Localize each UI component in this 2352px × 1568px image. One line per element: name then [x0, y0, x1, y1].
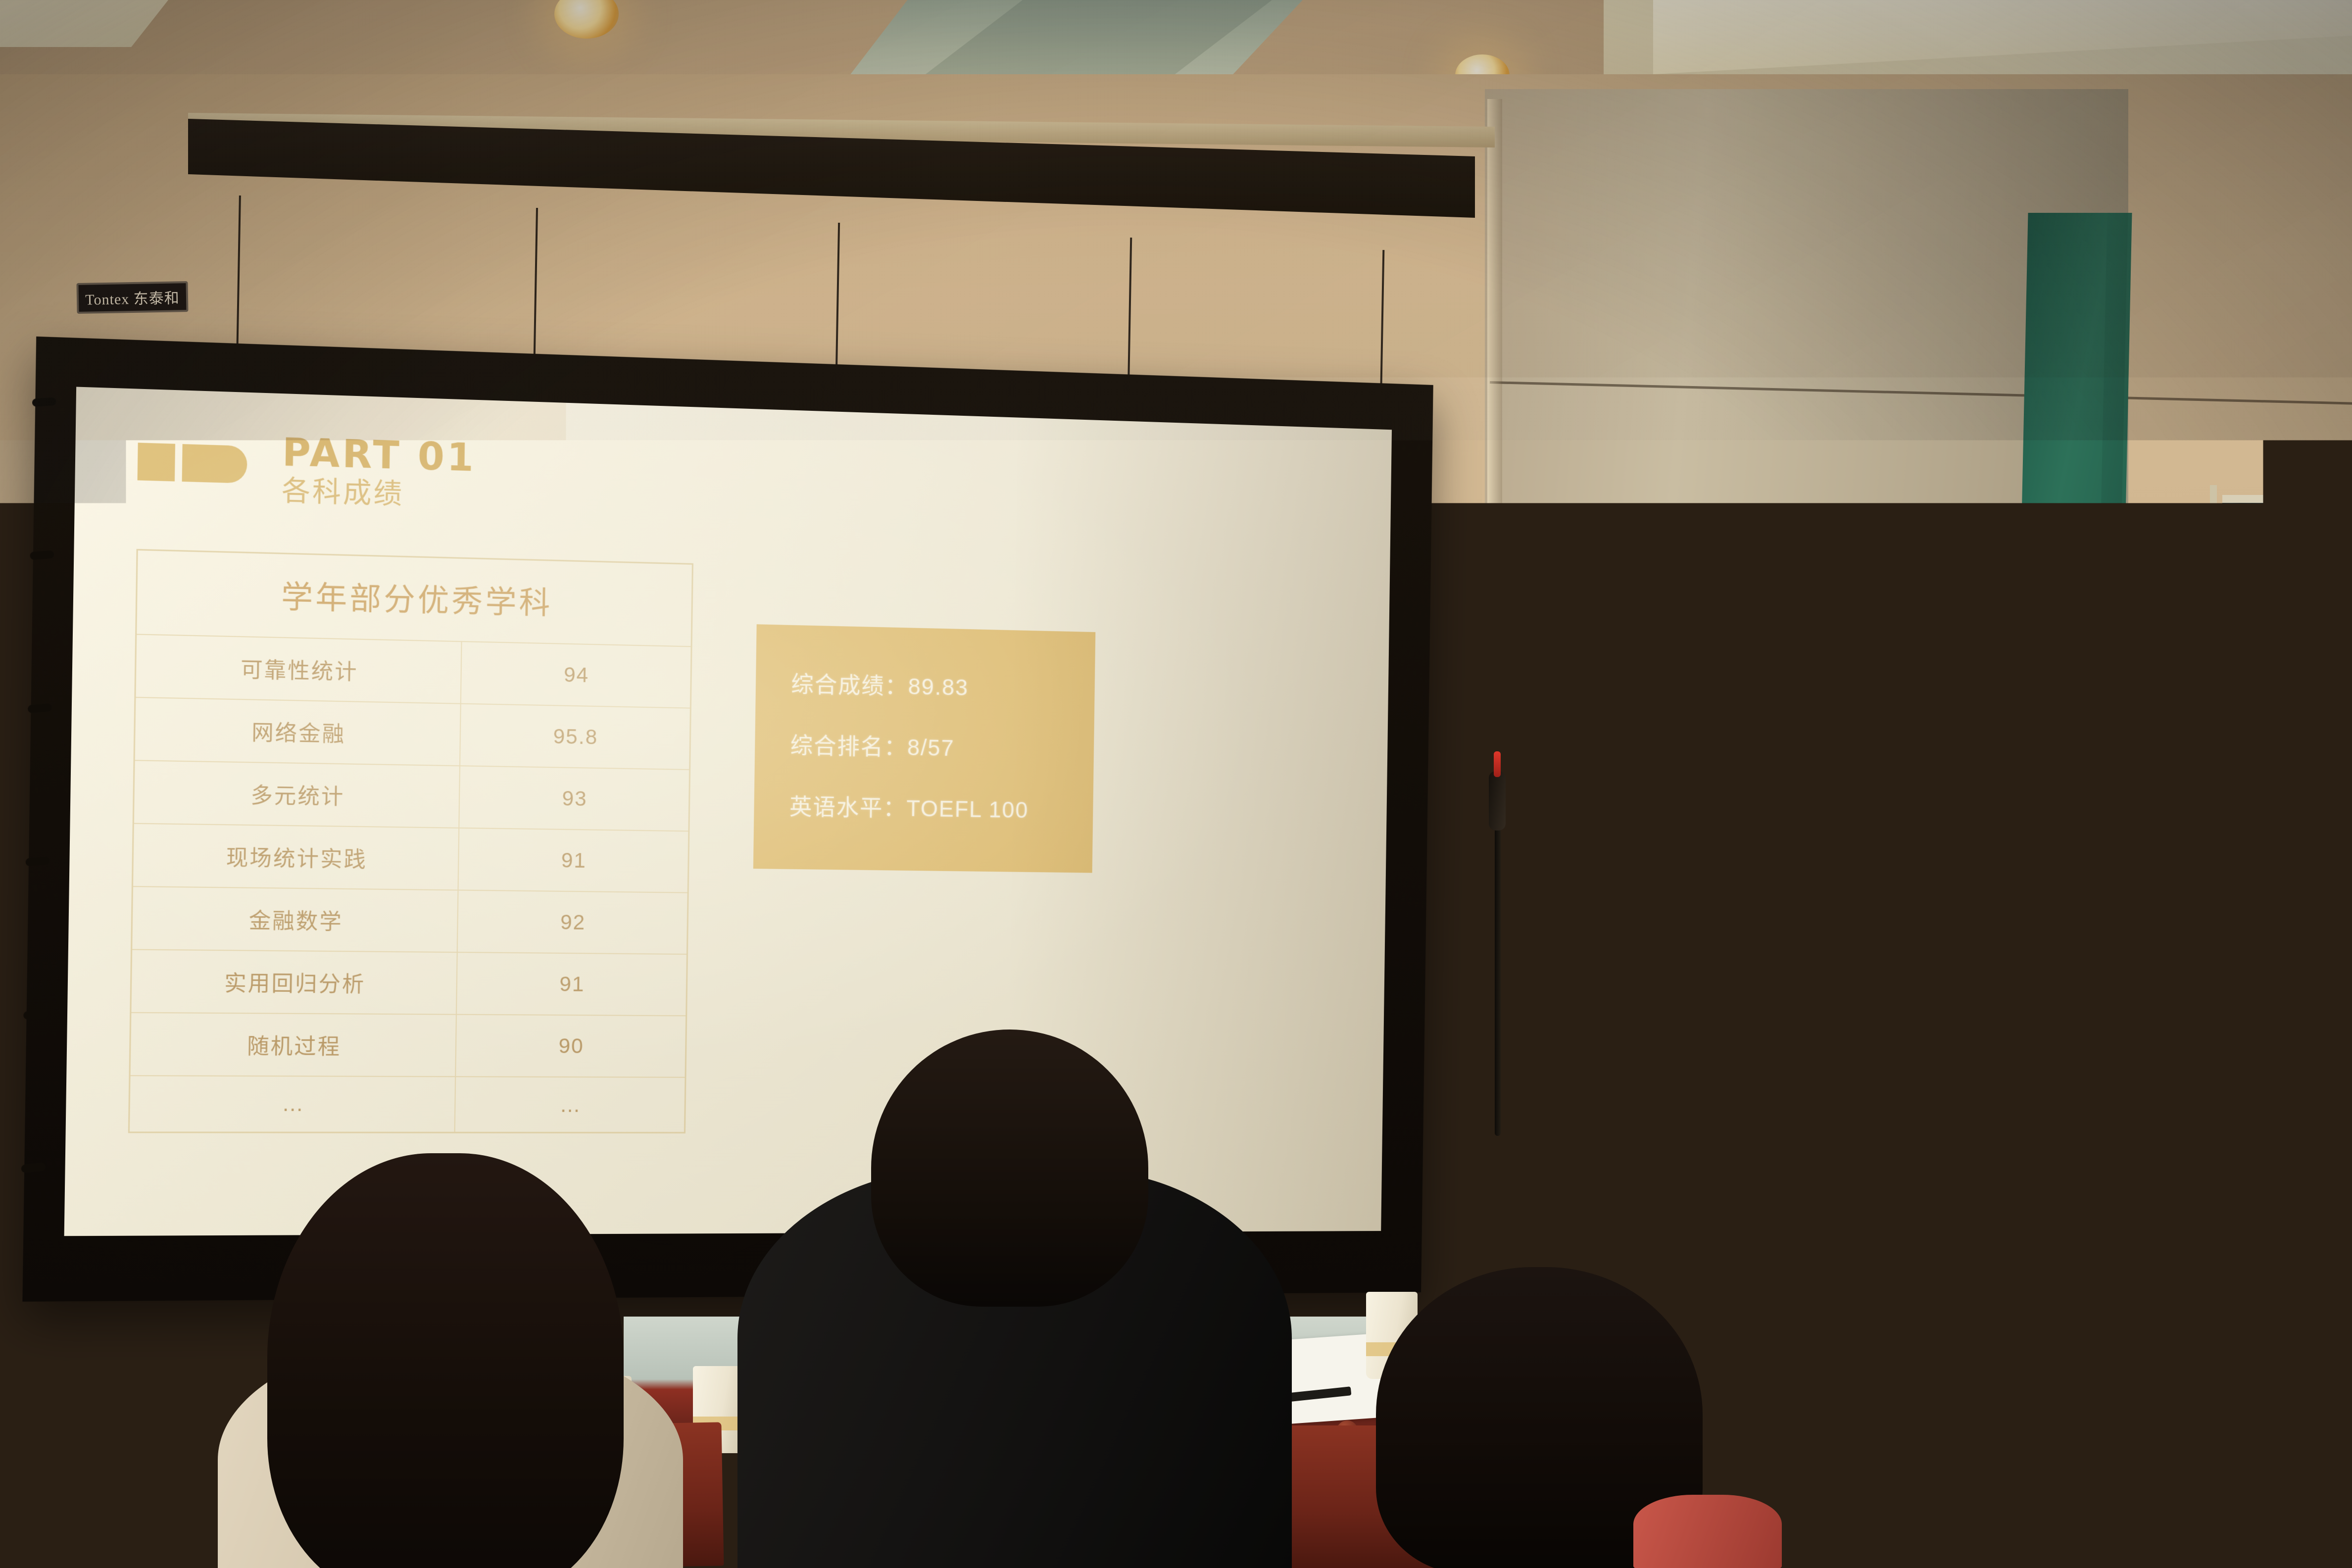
conference-room-photo: Tontex 东泰和 PART 01	[0, 0, 2352, 1568]
grades-table-body: 可靠性统计94网络金融95.8多元统计93现场统计实践91金融数学92实用回归分…	[129, 635, 691, 1133]
grade-subject-cell: 网络金融	[134, 697, 460, 766]
slide-decor-pills	[138, 440, 246, 487]
slide-header: PART 01 各科成绩	[137, 429, 1335, 537]
table-row: 实用回归分析91	[131, 950, 687, 1016]
table-row: 网络金融95.8	[134, 697, 690, 770]
summary-line-english-level: 英语水平：TOEFL 100	[789, 795, 1059, 822]
decor-pill-icon	[182, 444, 247, 484]
microphone-stand[interactable]	[1495, 789, 1501, 1136]
window-curtain	[2222, 495, 2352, 742]
presentation-slide: PART 01 各科成绩 学年部分优秀学科	[64, 387, 1392, 1236]
grade-subject-cell: 金融数学	[132, 886, 458, 952]
grades-table-header-row: 学年部分优秀学科	[136, 550, 693, 647]
presenter-hair	[1751, 719, 1894, 833]
table-row: 可靠性统计94	[135, 635, 691, 708]
screen-tension-hook	[32, 397, 56, 407]
audience-hair	[1762, 1054, 1975, 1381]
grade-score-cell: 90	[455, 1015, 686, 1078]
table-row: 随机过程90	[130, 1013, 686, 1078]
summary-line-overall-score: 综合成绩：89.83	[791, 673, 1060, 701]
grades-table: 学年部分优秀学科 可靠性统计94网络金融95.8多元统计93现场统计实践91金融…	[128, 549, 693, 1133]
audience-hair	[1970, 1188, 2297, 1534]
summary-line-overall-rank: 综合排名：8/57	[790, 734, 1059, 761]
table-row: ……	[129, 1076, 686, 1132]
slide-title-group: PART 01 各科成绩	[282, 433, 477, 513]
audience-scarf	[1633, 1495, 1782, 1568]
wall-plaque: Tontex 东泰和	[76, 281, 188, 314]
ac-display	[2302, 920, 2349, 939]
microphone-tip	[1494, 751, 1501, 777]
face-mask-icon	[2054, 1138, 2086, 1173]
table-row: 现场统计实践91	[132, 824, 688, 893]
projection-screen: PART 01 各科成绩 学年部分优秀学科	[22, 337, 1433, 1302]
table-row: 金融数学92	[132, 886, 688, 954]
wall-plaque-label: Tontex 东泰和	[85, 286, 180, 309]
grade-subject-cell: 多元统计	[133, 760, 459, 828]
ac-control-panel[interactable]	[2264, 916, 2352, 942]
grade-score-cell: 94	[461, 641, 692, 708]
grades-table-title: 学年部分优秀学科	[136, 550, 693, 647]
audience-head	[871, 1029, 1148, 1307]
grade-subject-cell: 现场统计实践	[132, 824, 459, 890]
audience-hair	[267, 1153, 624, 1568]
summary-info-box: 综合成绩：89.83 综合排名：8/57 英语水平：TOEFL 100	[753, 624, 1095, 873]
table-row: 多元统计93	[133, 760, 689, 831]
grade-score-cell: 91	[456, 952, 687, 1016]
grade-score-cell: 93	[459, 766, 690, 831]
microphone-icon[interactable]	[1489, 771, 1506, 831]
slide-part-label: PART 01	[282, 433, 477, 477]
projected-slide-area: PART 01 各科成绩 学年部分优秀学科	[64, 387, 1392, 1236]
